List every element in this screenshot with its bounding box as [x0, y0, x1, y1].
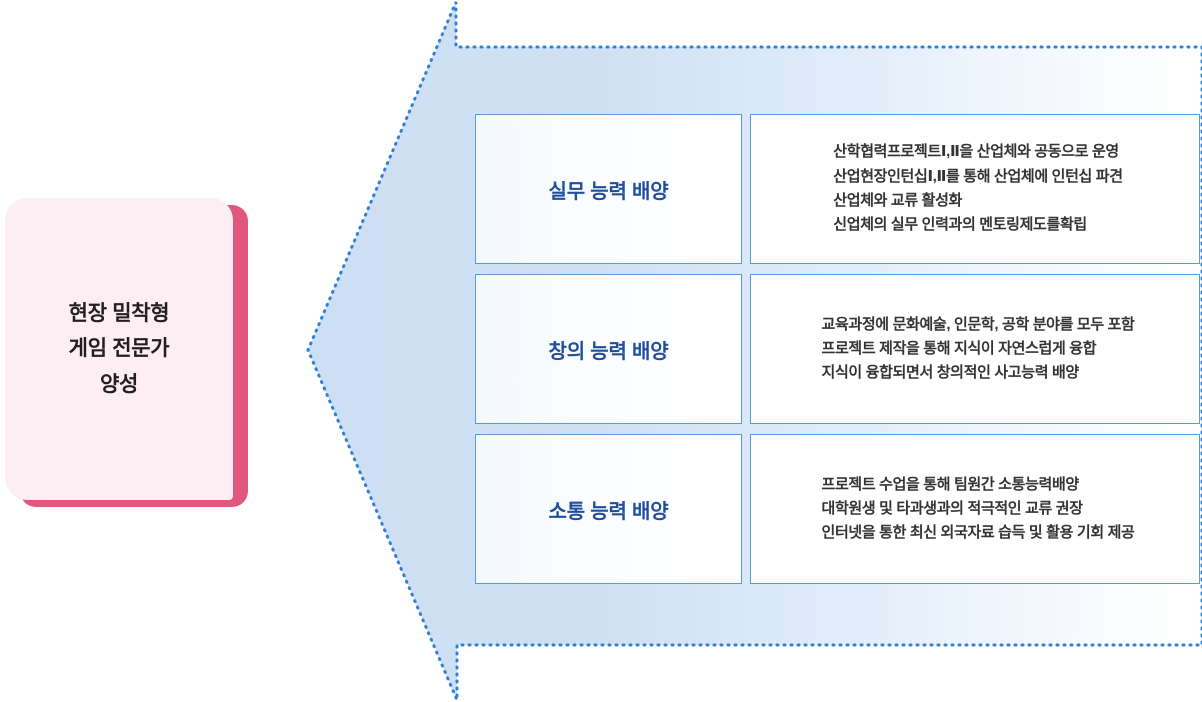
capability-detail-box-1[interactable]: 산학협력프로젝트Ⅰ,Ⅱ을 산업체와 공동으로 운영 산업현장인턴십Ⅰ,Ⅱ를 통해… [750, 114, 1200, 264]
capability-label-box-2[interactable]: 창의 능력 배양 [475, 274, 742, 424]
capability-label-box-1[interactable]: 실무 능력 배양 [475, 114, 742, 264]
goal-card: 현장 밀착형 게임 전문가 양성 [5, 198, 233, 500]
capability-label-1: 실무 능력 배양 [549, 175, 669, 204]
capability-label-box-3[interactable]: 소통 능력 배양 [475, 434, 742, 584]
capability-detail-box-2[interactable]: 교육과정에 문화예술, 인문학, 공학 분야를 모두 포함 프로젝트 제작을 통… [750, 274, 1200, 424]
capability-detail-box-3[interactable]: 프로젝트 수업을 통해 팀원간 소통능력배양 대학원생 및 타과생과의 적극적인… [750, 434, 1200, 584]
goal-title: 현장 밀착형 게임 전문가 양성 [69, 296, 170, 402]
capability-detail-3: 프로젝트 수업을 통해 팀원간 소통능력배양 대학원생 및 타과생과의 적극적인… [816, 473, 1135, 546]
capability-label-2: 창의 능력 배양 [549, 335, 669, 364]
capability-detail-2: 교육과정에 문화예술, 인문학, 공학 분야를 모두 포함 프로젝트 제작을 통… [816, 313, 1135, 386]
capability-detail-1: 산학협력프로젝트Ⅰ,Ⅱ을 산업체와 공동으로 운영 산업현장인턴십Ⅰ,Ⅱ를 통해… [827, 140, 1122, 237]
capability-label-3: 소통 능력 배양 [549, 495, 669, 524]
diagram-canvas: 현장 밀착형 게임 전문가 양성 실무 능력 배양 산학협력프로젝트Ⅰ,Ⅱ을 산… [0, 0, 1202, 702]
